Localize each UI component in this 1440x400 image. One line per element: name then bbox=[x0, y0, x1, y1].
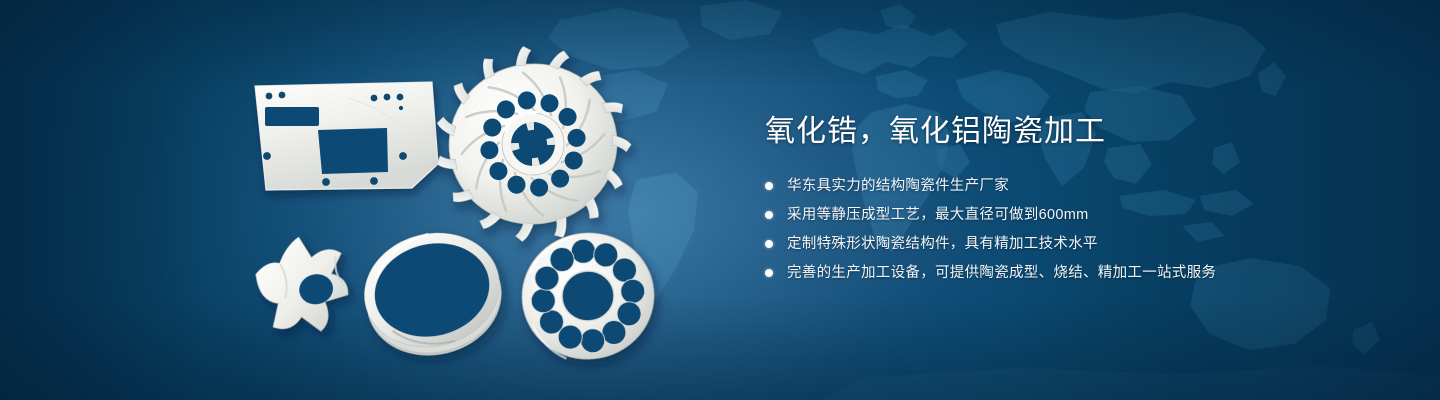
ceramic-perforated-disc bbox=[516, 226, 660, 366]
bullet-dot-icon bbox=[765, 269, 773, 277]
list-item: 华东具实力的结构陶瓷件生产厂家 bbox=[765, 176, 1385, 196]
banner-copy: 氧化锆，氧化铝陶瓷加工 华东具实力的结构陶瓷件生产厂家 采用等静压成型工艺，最大… bbox=[765, 112, 1385, 292]
hero-banner: 氧化锆，氧化铝陶瓷加工 华东具实力的结构陶瓷件生产厂家 采用等静压成型工艺，最大… bbox=[0, 0, 1440, 400]
list-item: 采用等静压成型工艺，最大直径可做到600mm bbox=[765, 205, 1385, 225]
list-item-label: 华东具实力的结构陶瓷件生产厂家 bbox=[787, 178, 1009, 194]
ceramic-mounting-plate bbox=[252, 80, 444, 192]
bullet-dot-icon bbox=[765, 240, 773, 248]
product-collage bbox=[0, 0, 720, 400]
list-item-label: 定制特殊形状陶瓷结构件，具有精加工技术水平 bbox=[787, 236, 1098, 252]
bullet-dot-icon bbox=[765, 182, 773, 190]
page-title: 氧化锆，氧化铝陶瓷加工 bbox=[765, 112, 1385, 152]
list-item: 定制特殊形状陶瓷结构件，具有精加工技术水平 bbox=[765, 234, 1385, 254]
list-item-label: 采用等静压成型工艺，最大直径可做到600mm bbox=[787, 207, 1088, 223]
bullet-dot-icon bbox=[765, 211, 773, 219]
ceramic-ring bbox=[340, 224, 520, 359]
ceramic-impeller-wheel bbox=[443, 52, 623, 232]
list-item: 完善的生产加工设备，可提供陶瓷成型、烧结、精加工一站式服务 bbox=[765, 263, 1385, 283]
list-item-label: 完善的生产加工设备，可提供陶瓷成型、烧结、精加工一站式服务 bbox=[787, 265, 1216, 281]
feature-list: 华东具实力的结构陶瓷件生产厂家 采用等静压成型工艺，最大直径可做到600mm 定… bbox=[765, 176, 1385, 283]
